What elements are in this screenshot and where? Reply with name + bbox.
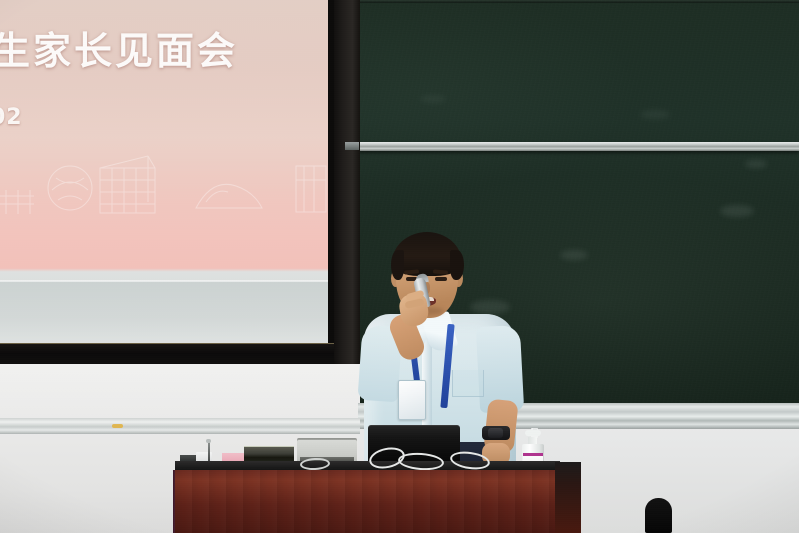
lecture-hall-scene: 生家长见面会 02: [0, 0, 799, 533]
hair-side-right: [450, 250, 464, 280]
slide-title: 生家长见面会: [0, 20, 292, 75]
chalk-tray-left: [0, 418, 360, 434]
chalk-smudge: [420, 95, 446, 103]
slide-building-artwork: [0, 150, 328, 260]
chalk-smudge: [720, 205, 754, 217]
chalkboard-middle-rail: [358, 142, 799, 151]
sanitizer-pump[interactable]: [525, 430, 541, 436]
floor-bag: [645, 498, 672, 533]
podium-front-panel: [175, 470, 560, 533]
desk-antenna-tip: [206, 439, 211, 443]
slide-lower-band: [0, 281, 328, 343]
podium-right-panel: [555, 462, 581, 533]
podium-wood-grain: [175, 470, 560, 533]
shirt-pocket: [452, 370, 484, 397]
chalkboard-top-seam: [358, 0, 799, 3]
chalk-smudge: [745, 160, 767, 168]
chalkboard-left-frame: [330, 0, 360, 404]
eye-right: [435, 277, 447, 281]
slide-subtitle: 02: [0, 105, 23, 130]
projection-screen-surface: 生家长见面会 02: [0, 0, 328, 344]
tray-marker: [112, 424, 123, 428]
chalk-smudge: [560, 250, 588, 260]
chalk-smudge: [640, 110, 670, 119]
slide-band-edge: [0, 280, 328, 282]
id-badge: [398, 380, 426, 420]
hair-side-left: [391, 250, 404, 280]
wristwatch-face: [488, 428, 503, 438]
chalkboard-rail-stub: [345, 142, 359, 150]
